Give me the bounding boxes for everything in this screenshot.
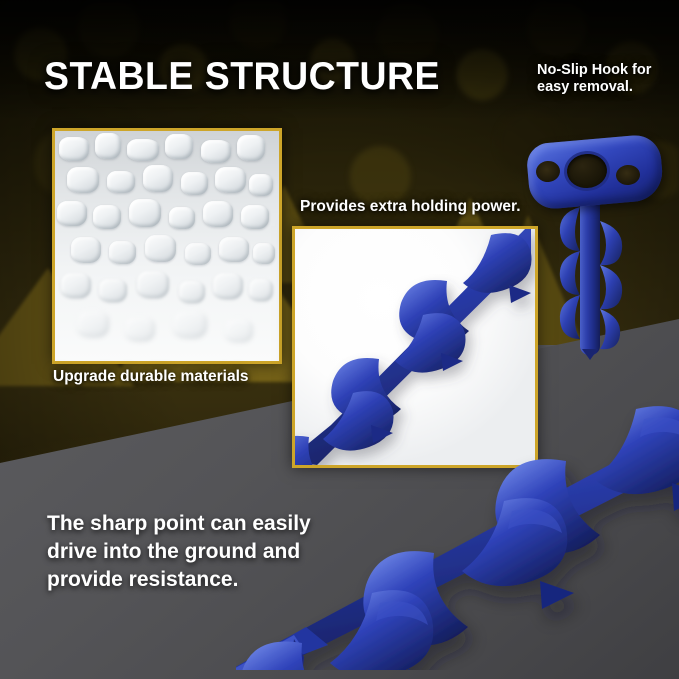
auger-product-large [236, 395, 679, 670]
infographic-canvas: STABLE STRUCTURE No-Slip Hook for easy r… [0, 0, 679, 679]
callout-no-slip-hook: No-Slip Hook for easy removal. [537, 62, 679, 96]
resin-pellets-photo [55, 131, 279, 361]
callout-holding-power: Provides extra holding power. [300, 198, 521, 216]
page-title: STABLE STRUCTURE [44, 55, 440, 99]
caption-upgrade-materials: Upgrade durable materials [53, 368, 249, 386]
large-auger-svg [236, 395, 679, 670]
stake-product-standing [520, 135, 670, 360]
inset-photo-pellets [52, 128, 282, 364]
